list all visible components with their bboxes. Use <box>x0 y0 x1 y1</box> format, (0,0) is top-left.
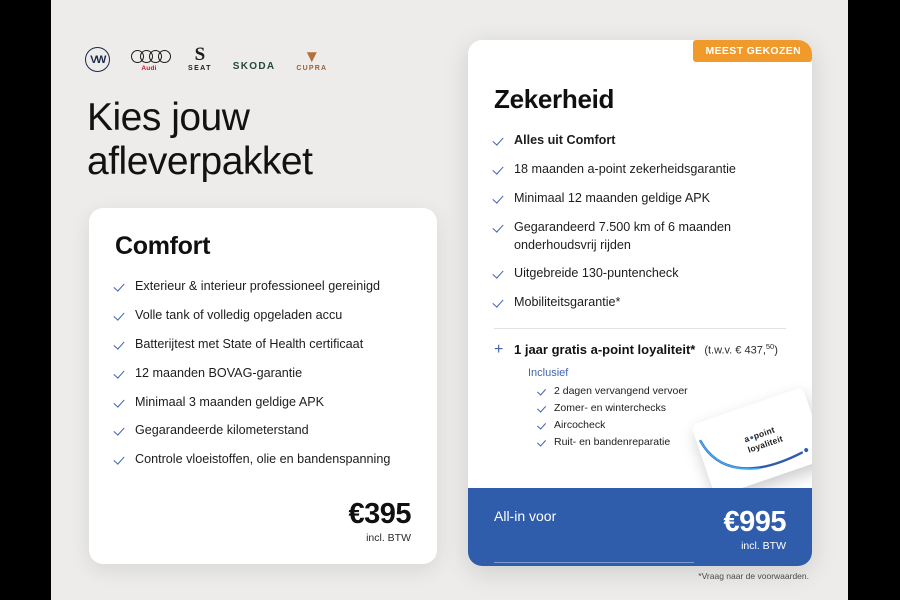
footer-top-row: All-in voor €995 incl. BTW <box>494 508 786 552</box>
check-icon <box>494 164 505 175</box>
loyalty-title: 1 jaar gratis a-point loyaliteit* <box>514 342 695 357</box>
check-icon <box>538 438 547 447</box>
check-icon <box>115 310 126 321</box>
footer-rule <box>494 562 694 563</box>
page-title: Kies jouw afleverpakket <box>87 96 427 183</box>
check-icon <box>494 193 505 204</box>
check-icon <box>494 268 505 279</box>
check-icon <box>494 222 505 233</box>
list-item: Minimaal 3 maanden geldige APK <box>115 394 411 412</box>
zekerheid-feature-list: Alles uit Comfort 18 maanden a-point zek… <box>494 132 786 312</box>
audi-wordmark: Audi <box>141 65 156 72</box>
list-item: Controle vloeistoffen, olie en bandenspa… <box>115 451 411 469</box>
comfort-vat-note: incl. BTW <box>348 532 411 544</box>
included-text: Ruit- en bandenreparatie <box>554 436 670 448</box>
zekerheid-price-footer: All-in voor €995 incl. BTW <box>468 488 812 566</box>
plus-icon: + <box>494 342 505 358</box>
included-text: 2 dagen vervangend vervoer <box>554 385 688 397</box>
seat-logo: S SEAT <box>188 46 212 72</box>
feature-text: Uitgebreide 130-puntencheck <box>514 265 679 283</box>
feature-text: Alles uit Comfort <box>514 132 615 150</box>
check-icon <box>538 404 547 413</box>
zekerheid-body: MEEST GEKOZEN Zekerheid Alles uit Comfor… <box>468 40 812 448</box>
seat-wordmark: SEAT <box>188 65 212 72</box>
included-text: Zomer- en winterchecks <box>554 402 666 414</box>
feature-text: Gegarandeerde kilometerstand <box>135 422 309 440</box>
list-item: Batterijtest met State of Health certifi… <box>115 336 411 354</box>
status-badge: MEEST GEKOZEN <box>693 40 812 62</box>
list-item: Alles uit Comfort <box>494 132 786 150</box>
included-text: Aircocheck <box>554 419 605 431</box>
seat-icon: S <box>195 46 206 64</box>
check-icon <box>115 368 126 379</box>
check-icon <box>115 281 126 292</box>
package-card-zekerheid[interactable]: MEEST GEKOZEN Zekerheid Alles uit Comfor… <box>468 40 812 566</box>
list-item: 18 maanden a-point zekerheidsgarantie <box>494 161 786 179</box>
volkswagen-logo: VW <box>85 47 110 72</box>
list-item: 2 dagen vervangend vervoer <box>528 385 786 397</box>
brand-logo-strip: VW Audi S SEAT SKODA ▼ CUPRA <box>85 38 327 72</box>
cupra-logo: ▼ CUPRA <box>296 50 327 72</box>
list-item: Gegarandeerd 7.500 km of 6 maanden onder… <box>494 219 786 255</box>
check-icon <box>115 339 126 350</box>
loyalty-headline-row: + 1 jaar gratis a-point loyaliteit* (t.w… <box>494 342 786 358</box>
loyalty-worth: (t.w.v. € 437,50) <box>704 342 778 357</box>
feature-text: Gegarandeerd 7.500 km of 6 maanden onder… <box>514 219 786 255</box>
letterbox-right <box>848 0 900 600</box>
footnote: *Vraag naar de voorwaarden. <box>698 571 809 581</box>
cupra-icon: ▼ <box>303 50 320 64</box>
check-icon <box>538 421 547 430</box>
screenshot-stage: VW Audi S SEAT SKODA ▼ CUPRA Kies jouw a… <box>0 0 900 600</box>
feature-text: Controle vloeistoffen, olie en bandenspa… <box>135 451 390 469</box>
check-icon <box>538 387 547 396</box>
comfort-feature-list: Exterieur & interieur professioneel gere… <box>115 278 411 469</box>
comfort-title: Comfort <box>115 232 411 261</box>
content-canvas: VW Audi S SEAT SKODA ▼ CUPRA Kies jouw a… <box>51 0 848 600</box>
loyalty-worth-prefix: (t.w.v. € 437, <box>704 345 766 357</box>
comfort-price-block: €395 incl. BTW <box>348 498 411 544</box>
audi-rings-icon <box>131 50 167 63</box>
vw-icon: VW <box>85 47 110 72</box>
list-item: Gegarandeerde kilometerstand <box>115 422 411 440</box>
zekerheid-price: €995 <box>723 508 786 537</box>
letterbox-left <box>0 0 51 600</box>
check-icon <box>115 397 126 408</box>
list-item: 12 maanden BOVAG-garantie <box>115 365 411 383</box>
comfort-price: €395 <box>348 498 411 531</box>
feature-text: Batterijtest met State of Health certifi… <box>135 336 363 354</box>
list-item: Exterieur & interieur professioneel gere… <box>115 278 411 296</box>
audi-logo: Audi <box>131 50 167 72</box>
loyalty-worth-suffix: ) <box>774 345 778 357</box>
divider <box>494 328 786 329</box>
zekerheid-title: Zekerheid <box>494 84 786 115</box>
check-icon <box>115 425 126 436</box>
list-item: Minimaal 12 maanden geldige APK <box>494 190 786 208</box>
feature-text: 18 maanden a-point zekerheidsgarantie <box>514 161 736 179</box>
list-item: Mobiliteitsgarantie* <box>494 294 786 312</box>
feature-text: Minimaal 12 maanden geldige APK <box>514 190 710 208</box>
feature-text: Exterieur & interieur professioneel gere… <box>135 278 380 296</box>
included-label: Inclusief <box>528 367 786 379</box>
zekerheid-vat-note: incl. BTW <box>723 540 786 552</box>
check-icon <box>115 454 126 465</box>
feature-text: Volle tank of volledig opgeladen accu <box>135 307 342 325</box>
cupra-wordmark: CUPRA <box>296 65 327 72</box>
feature-text: Mobiliteitsgarantie* <box>514 294 620 312</box>
skoda-wordmark: SKODA <box>233 61 276 72</box>
list-item: Uitgebreide 130-puntencheck <box>494 265 786 283</box>
package-card-comfort[interactable]: Comfort Exterieur & interieur profession… <box>89 208 437 564</box>
loyalty-worth-cents: 50 <box>766 342 774 351</box>
allin-label: All-in voor <box>494 508 556 524</box>
check-icon <box>494 135 505 146</box>
skoda-logo: SKODA <box>233 61 276 72</box>
zekerheid-price-block: €995 incl. BTW <box>723 508 786 552</box>
feature-text: 12 maanden BOVAG-garantie <box>135 365 302 383</box>
check-icon <box>494 297 505 308</box>
list-item: Volle tank of volledig opgeladen accu <box>115 307 411 325</box>
feature-text: Minimaal 3 maanden geldige APK <box>135 394 324 412</box>
